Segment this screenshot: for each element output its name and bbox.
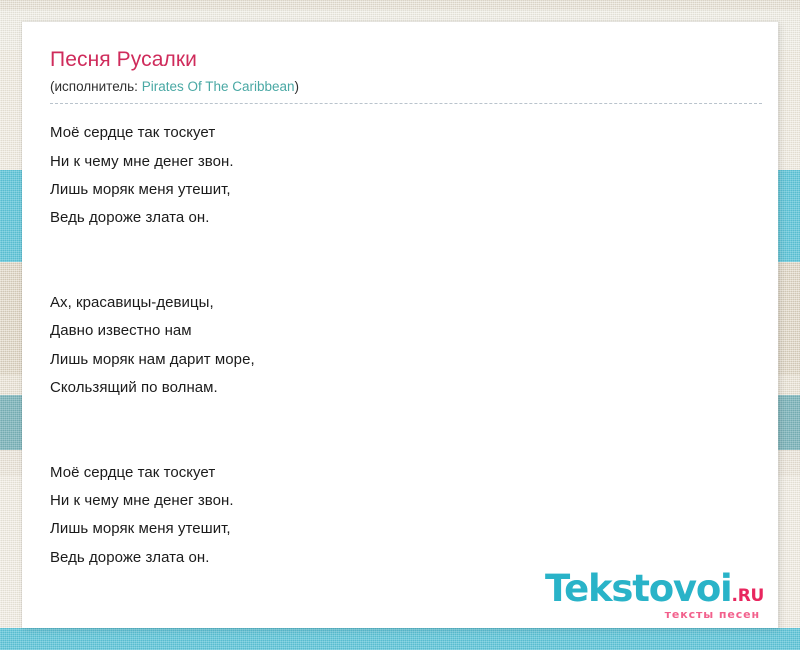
background-stripe-0	[0, 0, 800, 10]
page-title: Песня Русалки	[50, 48, 750, 73]
header-divider	[50, 103, 762, 104]
artist-label: (исполнитель:	[50, 79, 138, 94]
artist-line: (исполнитель: Pirates Of The Caribbean)	[50, 78, 750, 104]
logo-wordmark: Tekstovoi	[545, 570, 732, 607]
background-stripe-9	[0, 628, 800, 650]
artist-paren-close: )	[295, 79, 300, 94]
song-card: Песня Русалки (исполнитель: Pirates Of T…	[22, 22, 778, 628]
site-logo[interactable]: Tekstovoi.RU тексты песен	[545, 570, 764, 620]
artist-link[interactable]: Pirates Of The Caribbean	[142, 79, 295, 94]
lyrics-text: Моё сердце так тоскует Ни к чему мне ден…	[50, 119, 750, 628]
logo-tld: .RU	[732, 588, 764, 605]
logo-tagline: тексты песен	[545, 609, 760, 620]
logo-row: Tekstovoi.RU	[545, 570, 764, 607]
